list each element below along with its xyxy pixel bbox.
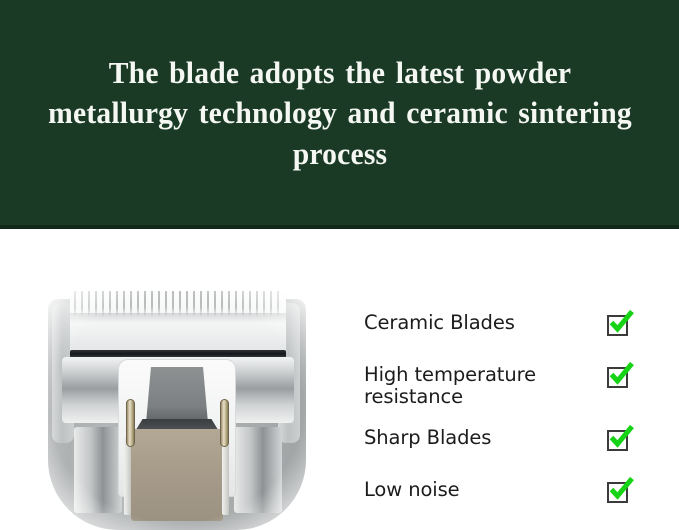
blade-teeth-shadow bbox=[70, 313, 286, 323]
feature-item: Low noise bbox=[364, 478, 650, 508]
check-icon bbox=[608, 361, 634, 387]
feature-label: Sharp Blades bbox=[364, 426, 491, 449]
check-icon bbox=[608, 476, 634, 502]
headline-text: The blade adopts the latest powder metal… bbox=[29, 53, 650, 174]
feature-list: Ceramic Blades High temperature resistan… bbox=[364, 311, 650, 508]
blade-thin-bar-left bbox=[124, 437, 131, 515]
feature-item: Sharp Blades bbox=[364, 426, 650, 456]
blade-trapezoid bbox=[146, 367, 208, 423]
feature-item: Ceramic Blades bbox=[364, 311, 650, 341]
feature-label: High temperature resistance bbox=[364, 363, 579, 408]
checkbox-checked bbox=[607, 482, 628, 503]
check-icon bbox=[608, 309, 634, 335]
checkbox-checked bbox=[607, 315, 628, 336]
blade-thin-bar-right bbox=[222, 437, 229, 515]
checkbox-checked bbox=[607, 430, 628, 451]
content-area: Ceramic Blades High temperature resistan… bbox=[0, 229, 679, 530]
blade-pin-right bbox=[220, 399, 229, 447]
blade-ceramic-block bbox=[131, 429, 223, 521]
blade-side-block-right bbox=[234, 427, 282, 513]
blade-comb-plate bbox=[70, 291, 286, 353]
product-photo bbox=[34, 287, 320, 530]
feature-label: Ceramic Blades bbox=[364, 311, 515, 334]
header-banner: The blade adopts the latest powder metal… bbox=[0, 0, 679, 227]
checkbox-checked bbox=[607, 367, 628, 388]
product-feature-banner: The blade adopts the latest powder metal… bbox=[0, 0, 679, 530]
check-icon bbox=[608, 424, 634, 450]
blade-side-block-left bbox=[74, 427, 122, 513]
blade-illustration bbox=[34, 287, 320, 530]
feature-label: Low noise bbox=[364, 478, 460, 501]
blade-pin-left bbox=[126, 399, 135, 447]
feature-item: High temperature resistance bbox=[364, 363, 650, 408]
